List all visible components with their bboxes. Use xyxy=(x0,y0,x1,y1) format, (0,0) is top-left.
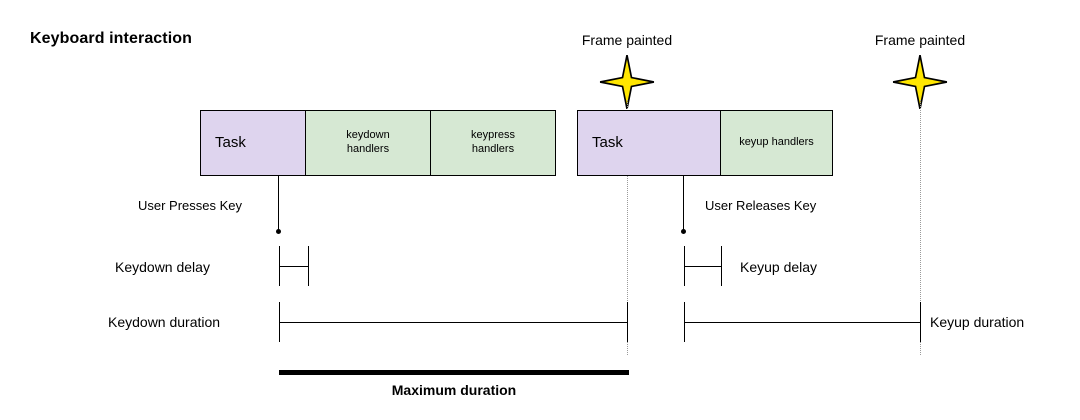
keyup-duration-label: Keyup duration xyxy=(930,314,1024,330)
keydown-delay-span xyxy=(279,266,308,267)
page-title: Keyboard interaction xyxy=(30,30,192,48)
keydown-delay-label: Keydown delay xyxy=(115,259,210,275)
frame-painted-label: Frame painted xyxy=(875,32,965,48)
timeline-box-label: keyup handlers xyxy=(739,136,814,150)
timeline-box-label: Task xyxy=(592,134,623,153)
timeline-box-label: Task xyxy=(215,134,246,153)
timeline-box-keydown-handlers: keydown handlers xyxy=(305,110,431,176)
keyup-delay-span xyxy=(684,266,721,267)
keyup-event-leader-line xyxy=(683,176,684,232)
keydown-delay-cap-right xyxy=(308,246,309,286)
keydown-duration-label: Keydown duration xyxy=(108,314,220,330)
user-presses-key-label: User Presses Key xyxy=(138,198,242,213)
keyup-event-dot xyxy=(681,229,686,234)
user-releases-key-label: User Releases Key xyxy=(705,198,816,213)
keyup-duration-span xyxy=(684,322,920,323)
timeline-box-task-1: Task xyxy=(200,110,306,176)
maximum-duration-label: Maximum duration xyxy=(279,382,629,398)
timeline-box-label: keypress handlers xyxy=(471,129,515,157)
timeline-box-keypress-handlers: keypress handlers xyxy=(430,110,556,176)
keydown-duration-cap-right xyxy=(627,302,628,342)
keydown-event-leader-line xyxy=(278,176,279,232)
keyup-delay-label: Keyup delay xyxy=(740,259,817,275)
timeline-box-task-2: Task xyxy=(577,110,721,176)
keydown-event-dot xyxy=(276,229,281,234)
frame-painted-label: Frame painted xyxy=(582,32,672,48)
keyup-delay-cap-right xyxy=(721,246,722,286)
keydown-duration-span xyxy=(279,322,627,323)
maximum-duration-rule xyxy=(279,370,629,375)
timeline-box-keyup-handlers: keyup handlers xyxy=(720,110,833,176)
keyup-duration-cap-right xyxy=(920,302,921,342)
keyboard-interaction-diagram: Keyboard interaction Frame painted Frame… xyxy=(0,0,1080,420)
timeline-box-label: keydown handlers xyxy=(346,129,389,157)
